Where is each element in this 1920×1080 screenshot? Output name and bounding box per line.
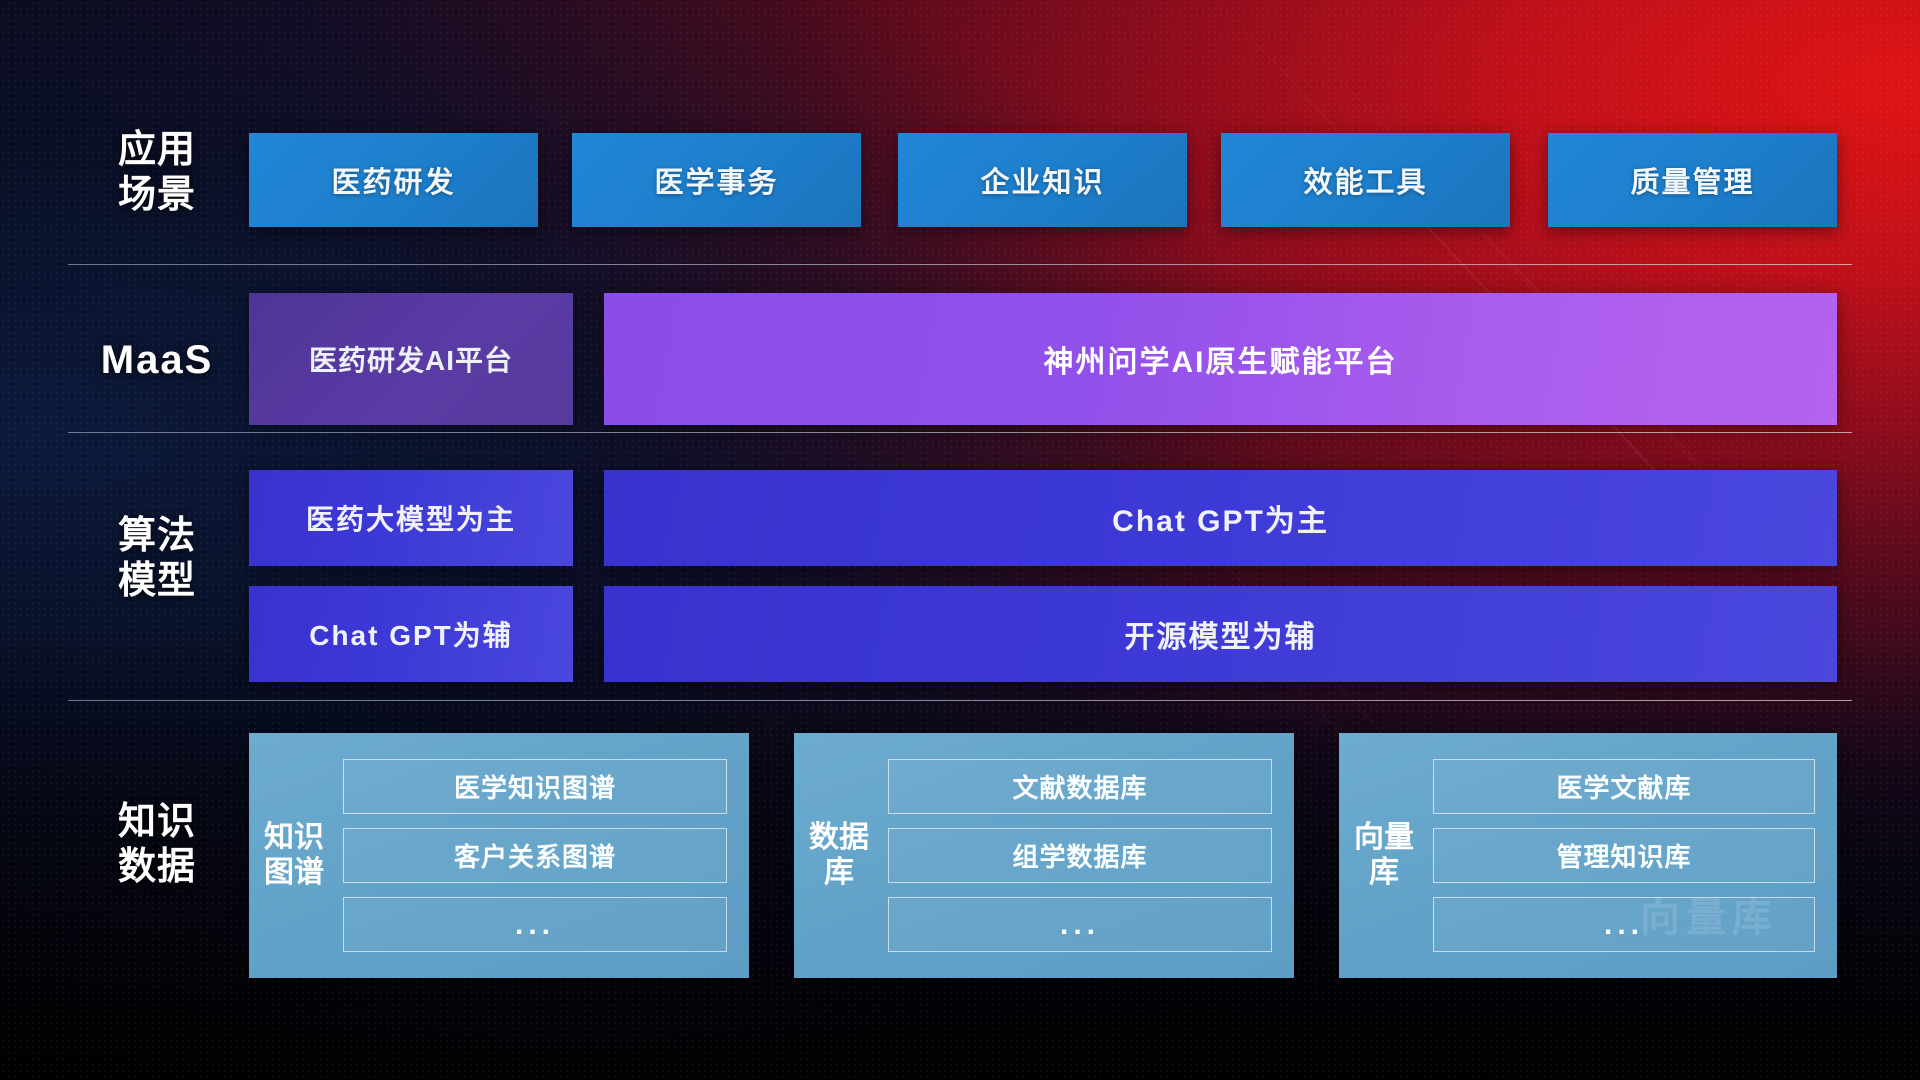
row-label-knowledge-line2: 数据 [68, 845, 246, 890]
knowledge-group-1[interactable]: 知识图谱 医学知识图谱 客户关系图谱 ... [249, 733, 749, 978]
knowledge-group-1-items: 医学知识图谱 客户关系图谱 ... [339, 741, 749, 970]
algorithm-label-row1-left: 医药大模型为主 [306, 498, 516, 538]
app-scenario-box-4[interactable]: 效能工具 [1221, 133, 1510, 227]
maas-platform-box-right[interactable]: 神州问学AI原生赋能平台 [604, 293, 1837, 425]
app-scenario-label-4: 效能工具 [1303, 159, 1427, 201]
app-scenario-label-1: 医药研发 [331, 159, 455, 201]
knowledge-group-3[interactable]: 向量库 医学文献库 管理知识库 ... [1339, 733, 1837, 978]
app-scenario-box-5[interactable]: 质量管理 [1548, 133, 1837, 227]
divider-maas-algorithm [68, 432, 1852, 433]
app-scenario-label-3: 企业知识 [980, 159, 1104, 201]
knowledge-item-2-3[interactable]: ... [888, 897, 1272, 952]
row-label-algorithm: 算法 模型 [68, 514, 246, 604]
row-label-algorithm-line1: 算法 [68, 514, 246, 559]
knowledge-group-1-title: 知识图谱 [249, 821, 339, 891]
knowledge-group-2-title: 数据库 [794, 821, 884, 891]
app-scenario-label-2: 医学事务 [654, 159, 778, 201]
knowledge-item-2-1[interactable]: 文献数据库 [888, 759, 1272, 814]
maas-platform-label-right: 神州问学AI原生赋能平台 [1044, 337, 1398, 381]
knowledge-item-3-2[interactable]: 管理知识库 [1433, 828, 1815, 883]
row-label-application-line1: 应用 [68, 128, 246, 173]
maas-platform-box-left[interactable]: 医药研发AI平台 [249, 293, 573, 425]
knowledge-group-2[interactable]: 数据库 文献数据库 组学数据库 ... [794, 733, 1294, 978]
algorithm-box-row1-left[interactable]: 医药大模型为主 [249, 470, 573, 566]
algorithm-box-row2-left[interactable]: Chat GPT为辅 [249, 586, 573, 682]
app-scenario-label-5: 质量管理 [1630, 159, 1754, 201]
app-scenario-box-2[interactable]: 医学事务 [572, 133, 861, 227]
row-label-knowledge: 知识 数据 [68, 800, 246, 890]
algorithm-label-row2-left: Chat GPT为辅 [309, 614, 513, 654]
app-scenario-box-1[interactable]: 医药研发 [249, 133, 538, 227]
knowledge-item-1-2[interactable]: 客户关系图谱 [343, 828, 727, 883]
knowledge-item-3-3[interactable]: ... [1433, 897, 1815, 952]
knowledge-group-3-items: 医学文献库 管理知识库 ... [1429, 741, 1837, 970]
knowledge-group-2-items: 文献数据库 组学数据库 ... [884, 741, 1294, 970]
app-scenario-box-3[interactable]: 企业知识 [898, 133, 1187, 227]
knowledge-item-1-1[interactable]: 医学知识图谱 [343, 759, 727, 814]
knowledge-item-2-2[interactable]: 组学数据库 [888, 828, 1272, 883]
knowledge-item-3-1[interactable]: 医学文献库 [1433, 759, 1815, 814]
row-label-knowledge-line1: 知识 [68, 800, 246, 845]
algorithm-label-row2-right: 开源模型为辅 [1125, 612, 1317, 656]
row-label-maas: MaaS [68, 337, 246, 384]
algorithm-label-row1-right: Chat GPT为主 [1112, 496, 1329, 540]
row-label-application: 应用 场景 [68, 128, 246, 218]
diagram-canvas: 应用 场景 医药研发 医学事务 企业知识 效能工具 质量管理 MaaS 医药研发… [0, 0, 1920, 1080]
divider-algorithm-knowledge [68, 700, 1852, 701]
divider-application-maas [68, 264, 1852, 265]
maas-platform-label-left: 医药研发AI平台 [309, 339, 513, 379]
row-label-algorithm-line2: 模型 [68, 559, 246, 604]
algorithm-box-row1-right[interactable]: Chat GPT为主 [604, 470, 1837, 566]
knowledge-item-1-3[interactable]: ... [343, 897, 727, 952]
row-label-maas-text: MaaS [101, 338, 214, 382]
knowledge-group-3-title: 向量库 [1339, 821, 1429, 891]
row-label-application-line2: 场景 [68, 173, 246, 218]
algorithm-box-row2-right[interactable]: 开源模型为辅 [604, 586, 1837, 682]
